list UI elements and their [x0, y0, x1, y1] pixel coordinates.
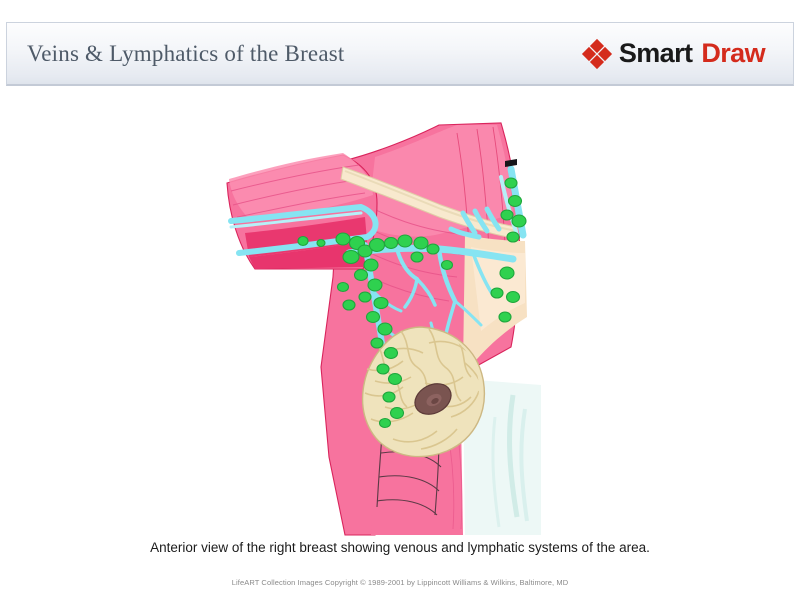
logo-text-draw: Draw [701, 38, 765, 69]
illustration-stage [0, 92, 800, 532]
smartdraw-logo[interactable]: SmartDraw [584, 38, 765, 69]
breast-anatomy-illustration [225, 117, 555, 537]
title-bar: Veins & Lymphatics of the Breast SmartDr… [6, 22, 794, 86]
logo-text-smart: Smart [619, 38, 693, 69]
copyright-notice: LifeART Collection Images Copyright © 19… [0, 578, 800, 587]
figure-caption: Anterior view of the right breast showin… [0, 540, 800, 555]
smartdraw-diamond-icon [584, 41, 610, 67]
page-title: Veins & Lymphatics of the Breast [27, 41, 344, 67]
